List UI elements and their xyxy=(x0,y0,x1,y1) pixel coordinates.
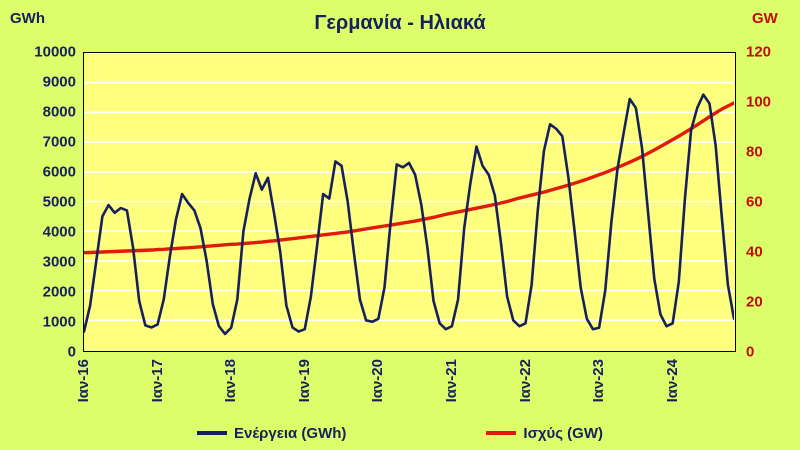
x-axis-tick-label: Ιαν-17 xyxy=(149,359,166,402)
legend-item-energy: Ενέργεια (GWh) xyxy=(197,425,346,442)
left-axis-tick-label: 9000 xyxy=(10,74,76,91)
left-axis-tick-label: 5000 xyxy=(10,194,76,211)
plot-area xyxy=(83,52,736,352)
right-axis-tick-label: 60 xyxy=(746,194,800,211)
legend-label-capacity: Ισχύς (GW) xyxy=(523,425,603,442)
legend-swatch-capacity xyxy=(486,431,516,435)
x-axis-tick-label: Ιαν-22 xyxy=(517,359,534,402)
legend-label-energy: Ενέργεια (GWh) xyxy=(234,425,346,442)
x-axis-tick-label: Ιαν-19 xyxy=(296,359,313,402)
energy-line-series xyxy=(84,95,734,334)
right-axis-tick-label: 0 xyxy=(746,344,800,361)
right-axis-ticks: 020406080100120 xyxy=(746,0,800,450)
right-axis-tick-label: 100 xyxy=(746,94,800,111)
x-axis-tick-label: Ιαν-24 xyxy=(664,359,681,402)
x-axis-tick-label: Ιαν-23 xyxy=(590,359,607,402)
left-axis-tick-label: 8000 xyxy=(10,104,76,121)
right-axis-tick-label: 120 xyxy=(746,44,800,61)
x-axis-tick-label: Ιαν-21 xyxy=(443,359,460,402)
chart-title: Γερμανία - Ηλιακά xyxy=(0,12,800,35)
plot-canvas xyxy=(84,53,734,350)
capacity-line-series xyxy=(84,103,734,253)
right-axis-tick-label: 20 xyxy=(746,294,800,311)
solar-generation-chart: GWh GW Γερμανία - Ηλιακά 010002000300040… xyxy=(0,0,800,450)
left-axis-tick-label: 0 xyxy=(10,344,76,361)
chart-legend: Ενέργεια (GWh) Ισχύς (GW) xyxy=(0,418,800,448)
gridlines xyxy=(84,53,734,320)
legend-item-capacity: Ισχύς (GW) xyxy=(486,425,603,442)
left-axis-tick-label: 4000 xyxy=(10,224,76,241)
x-axis-tick-label: Ιαν-20 xyxy=(369,359,386,402)
left-axis-tick-label: 1000 xyxy=(10,314,76,331)
left-axis-ticks: 0100020003000400050006000700080009000100… xyxy=(0,0,76,450)
right-axis-tick-label: 80 xyxy=(746,144,800,161)
left-axis-tick-label: 10000 xyxy=(10,44,76,61)
right-axis-tick-label: 40 xyxy=(746,244,800,261)
left-axis-tick-label: 7000 xyxy=(10,134,76,151)
x-axis-tick-label: Ιαν-16 xyxy=(75,359,92,402)
left-axis-tick-label: 3000 xyxy=(10,254,76,271)
left-axis-tick-label: 6000 xyxy=(10,164,76,181)
left-axis-tick-label: 2000 xyxy=(10,284,76,301)
x-axis-tick-label: Ιαν-18 xyxy=(222,359,239,402)
legend-swatch-energy xyxy=(197,431,227,435)
